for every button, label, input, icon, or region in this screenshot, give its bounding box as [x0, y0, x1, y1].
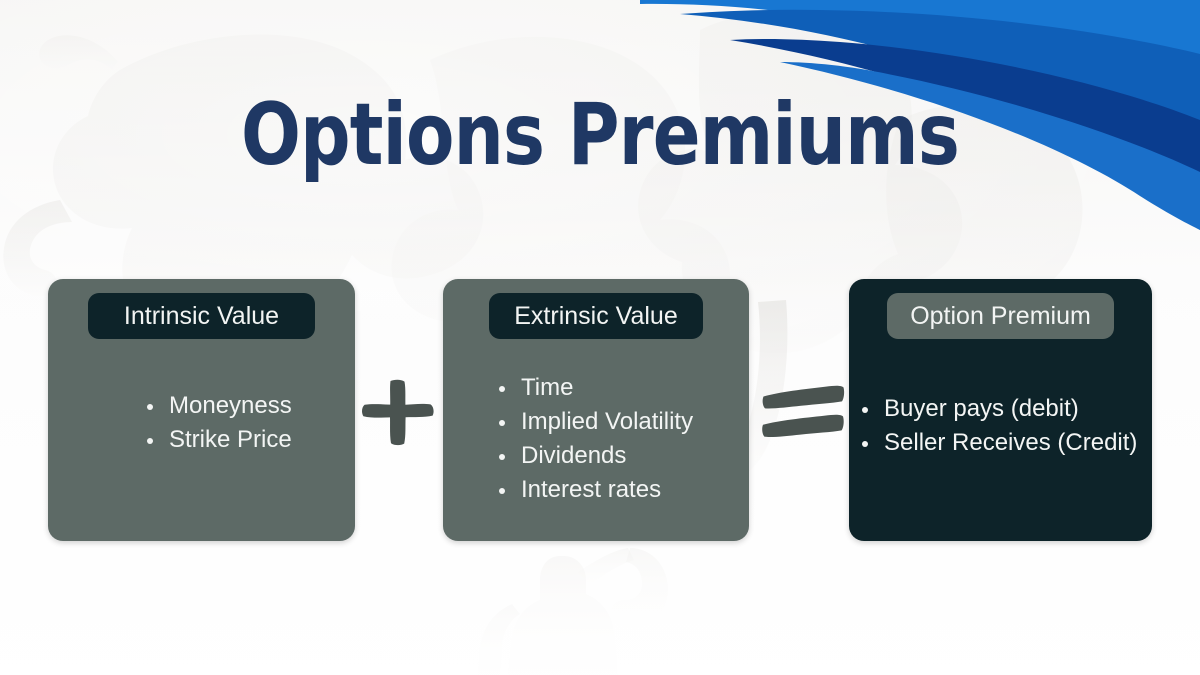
list-item: Interest rates: [495, 473, 693, 507]
page-title: Options Premiums: [108, 92, 1092, 178]
card-list-extrinsic-value: Time Implied Volatility Dividends Intere…: [495, 371, 693, 507]
card-header-intrinsic-value: Intrinsic Value: [88, 293, 315, 339]
card-option-premium: Option Premium Buyer pays (debit) Seller…: [849, 279, 1152, 541]
list-item: Moneyness: [143, 389, 292, 423]
list-item: Time: [495, 371, 693, 405]
card-extrinsic-value: Extrinsic Value Time Implied Volatility …: [443, 279, 749, 541]
list-item: Strike Price: [143, 423, 292, 457]
card-list-option-premium: Buyer pays (debit) Seller Receives (Cred…: [858, 392, 1137, 460]
trader-silhouette-bottom: [478, 548, 668, 675]
cards-container: Intrinsic Value Moneyness Strike Price E…: [0, 279, 1200, 541]
list-item: Dividends: [495, 439, 693, 473]
slide-canvas: Options Premiums Intrinsic Value Moneyne…: [0, 0, 1200, 675]
list-item: Implied Volatility: [495, 405, 693, 439]
card-list-intrinsic-value: Moneyness Strike Price: [143, 389, 292, 457]
card-header-extrinsic-value: Extrinsic Value: [489, 293, 703, 339]
list-item: Buyer pays (debit): [858, 392, 1137, 426]
card-intrinsic-value: Intrinsic Value Moneyness Strike Price: [48, 279, 355, 541]
list-item: Seller Receives (Credit): [858, 426, 1137, 460]
card-header-option-premium: Option Premium: [887, 293, 1114, 339]
